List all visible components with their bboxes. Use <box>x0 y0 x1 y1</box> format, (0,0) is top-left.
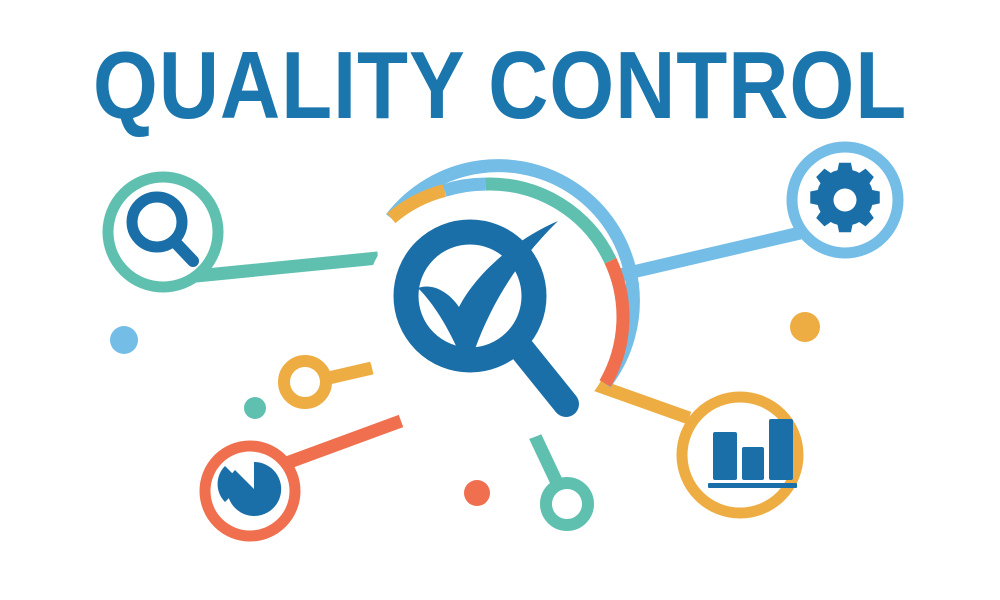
connector-hub-to-teal-node <box>534 434 559 487</box>
teal-connector-node[interactable] <box>546 483 588 525</box>
analytics-node[interactable] <box>682 397 798 513</box>
bar-chart-bar <box>742 447 764 480</box>
connector-hub-to-inspect <box>196 258 378 276</box>
decorative-dot-gold <box>790 312 820 342</box>
gear-icon <box>810 163 880 233</box>
connector-hub-to-report <box>284 421 401 464</box>
decorative-dot-teal <box>244 397 266 419</box>
infographic-canvas: QUALITY CONTROL <box>0 0 1000 600</box>
bar-chart-baseline <box>708 483 797 488</box>
decorative-dot-orange <box>464 480 490 506</box>
bar-chart-bar <box>769 419 793 480</box>
quality-check-hub[interactable] <box>362 166 633 445</box>
hub-arc-light-blue-2 <box>445 184 486 190</box>
connector-hub-to-settings <box>620 233 800 275</box>
connector-hub-to-analytics <box>588 382 689 418</box>
quality-control-diagram <box>0 0 1000 600</box>
bar-chart-bar <box>713 432 737 480</box>
settings-node[interactable] <box>792 147 898 253</box>
inspect-node[interactable] <box>108 177 218 287</box>
gold-connector-node[interactable] <box>284 361 326 403</box>
report-node[interactable] <box>205 446 295 536</box>
decorative-dot-blue <box>110 326 138 354</box>
